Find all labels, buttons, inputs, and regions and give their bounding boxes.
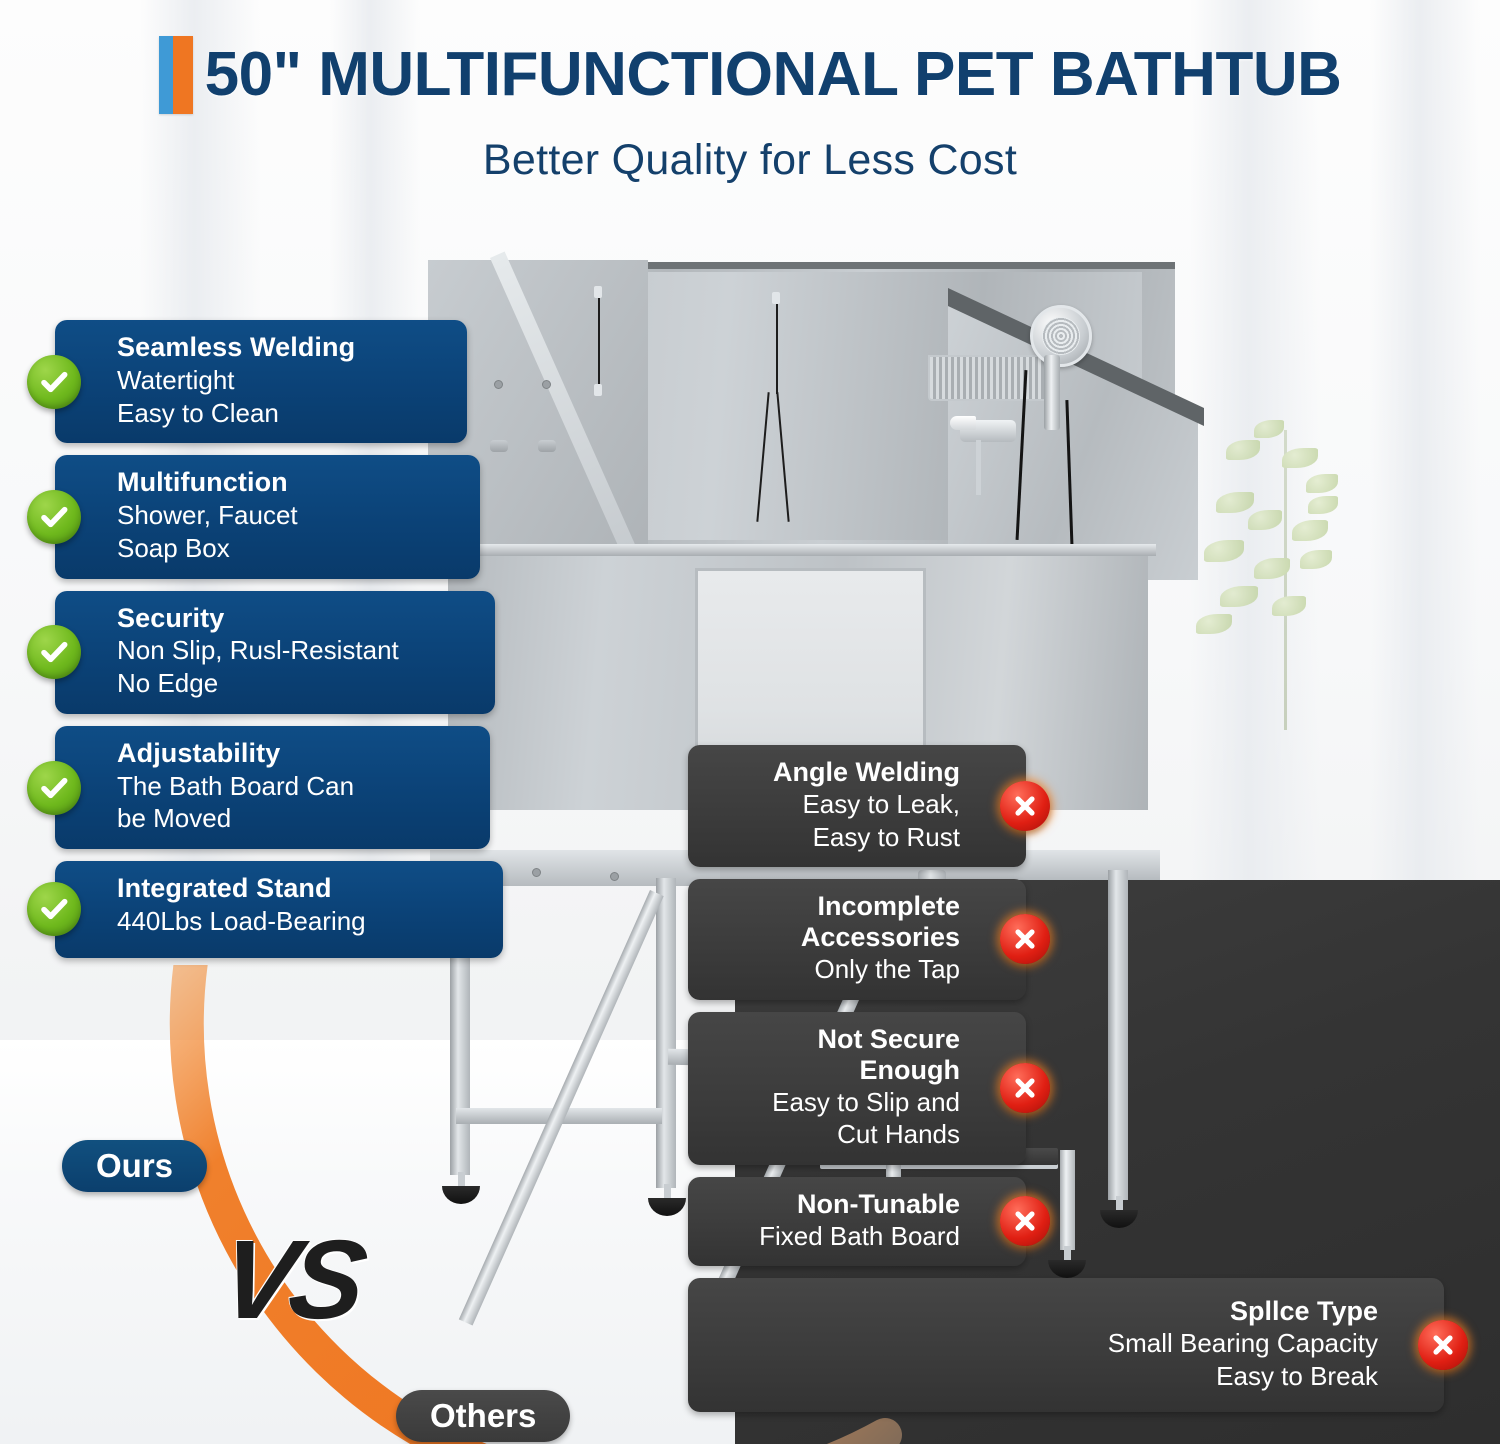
con-title: Non-Tunable	[710, 1189, 960, 1220]
soap-basket	[928, 355, 1052, 401]
pro-line1: Shower, Faucet	[117, 500, 462, 532]
faucet-handle	[950, 416, 976, 430]
leash-hook	[538, 440, 556, 452]
pro-title: Multifunction	[117, 467, 462, 499]
apron-screw	[610, 872, 619, 881]
ours-badge: Ours	[62, 1140, 207, 1192]
con-item[interactable]: Not Secure Enough Easy to Slip and Cut H…	[688, 1012, 1026, 1165]
pro-line1: The Bath Board Can	[117, 771, 472, 803]
vs-label: VS	[213, 1215, 369, 1344]
x-circle-icon	[1000, 1196, 1050, 1246]
pro-item[interactable]: Security Non Slip, Rusl-Resistant No Edg…	[55, 591, 495, 714]
check-circle-icon	[27, 882, 81, 936]
pros-column: Seamless Welding Watertight Easy to Clea…	[55, 320, 503, 970]
apron-screw	[532, 868, 541, 877]
infographic-canvas: 50" MULTIFUNCTIONAL PET BATHTUB Better Q…	[0, 0, 1500, 1444]
con-title: Incomplete Accessories	[710, 891, 960, 954]
x-circle-icon	[1418, 1320, 1468, 1370]
con-title: Not Secure Enough	[710, 1024, 960, 1087]
pro-line2: Easy to Clean	[117, 398, 449, 430]
adjustable-foot	[442, 1186, 480, 1204]
shower-head	[1030, 305, 1092, 367]
adjustable-foot	[648, 1198, 686, 1216]
page-title: 50" MULTIFUNCTIONAL PET BATHTUB	[205, 44, 1342, 106]
con-item[interactable]: Incomplete Accessories Only the Tap	[688, 879, 1026, 1000]
pro-line2: No Edge	[117, 668, 477, 700]
pro-title: Adjustability	[117, 738, 472, 770]
pro-line1: Non Slip, Rusl-Resistant	[117, 635, 477, 667]
con-item[interactable]: Angle Welding Easy to Leak, Easy to Rust	[688, 745, 1026, 867]
mount-screw	[542, 380, 551, 389]
pro-item[interactable]: Multifunction Shower, Faucet Soap Box	[55, 455, 480, 578]
tub-rim	[444, 544, 1156, 556]
pro-title: Seamless Welding	[117, 332, 449, 364]
tether-clip	[594, 384, 602, 396]
pro-line1: 440Lbs Load-Bearing	[117, 906, 485, 938]
header: 50" MULTIFUNCTIONAL PET BATHTUB Better Q…	[0, 36, 1500, 185]
con-item[interactable]: Spllce Type Small Bearing Capacity Easy …	[688, 1278, 1444, 1412]
decorative-plant	[1196, 400, 1416, 730]
accent-bars-icon	[159, 36, 193, 114]
pro-item[interactable]: Integrated Stand 440Lbs Load-Bearing	[55, 861, 503, 958]
pro-title: Security	[117, 603, 477, 635]
pro-line2: Soap Box	[117, 533, 462, 565]
faucet-spout	[976, 440, 981, 495]
x-circle-icon	[1000, 1063, 1050, 1113]
con-line1: Only the Tap	[710, 954, 960, 985]
con-title: Spllce Type	[710, 1296, 1378, 1327]
tether-cable	[598, 298, 600, 386]
pro-item[interactable]: Seamless Welding Watertight Easy to Clea…	[55, 320, 467, 443]
tether-cable	[776, 304, 778, 394]
con-line2: Easy to Rust	[710, 822, 960, 853]
pro-item[interactable]: Adjustability The Bath Board Can be Move…	[55, 726, 490, 849]
shower-holder	[1044, 355, 1060, 430]
pro-title: Integrated Stand	[117, 873, 485, 905]
x-circle-icon	[1000, 781, 1050, 831]
con-line1: Easy to Leak,	[710, 789, 960, 820]
con-line1: Small Bearing Capacity	[710, 1328, 1378, 1359]
check-circle-icon	[27, 355, 81, 409]
others-badge: Others	[396, 1390, 570, 1442]
stand-leg	[656, 878, 676, 1188]
tether-clip	[772, 292, 780, 304]
check-circle-icon	[27, 490, 81, 544]
pro-line1: Watertight	[117, 365, 449, 397]
con-line2: Cut Hands	[710, 1119, 960, 1150]
con-title: Angle Welding	[710, 757, 960, 788]
cons-column: Angle Welding Easy to Leak, Easy to Rust…	[688, 745, 1444, 1424]
x-circle-icon	[1000, 914, 1050, 964]
con-item[interactable]: Non-Tunable Fixed Bath Board	[688, 1177, 1026, 1267]
page-subtitle: Better Quality for Less Cost	[0, 136, 1500, 185]
con-line1: Easy to Slip and	[710, 1087, 960, 1118]
con-line2: Easy to Break	[710, 1361, 1378, 1392]
check-circle-icon	[27, 625, 81, 679]
pro-line2: be Moved	[117, 803, 472, 835]
check-circle-icon	[27, 761, 81, 815]
tether-clip	[594, 286, 602, 298]
con-line1: Fixed Bath Board	[710, 1221, 960, 1252]
